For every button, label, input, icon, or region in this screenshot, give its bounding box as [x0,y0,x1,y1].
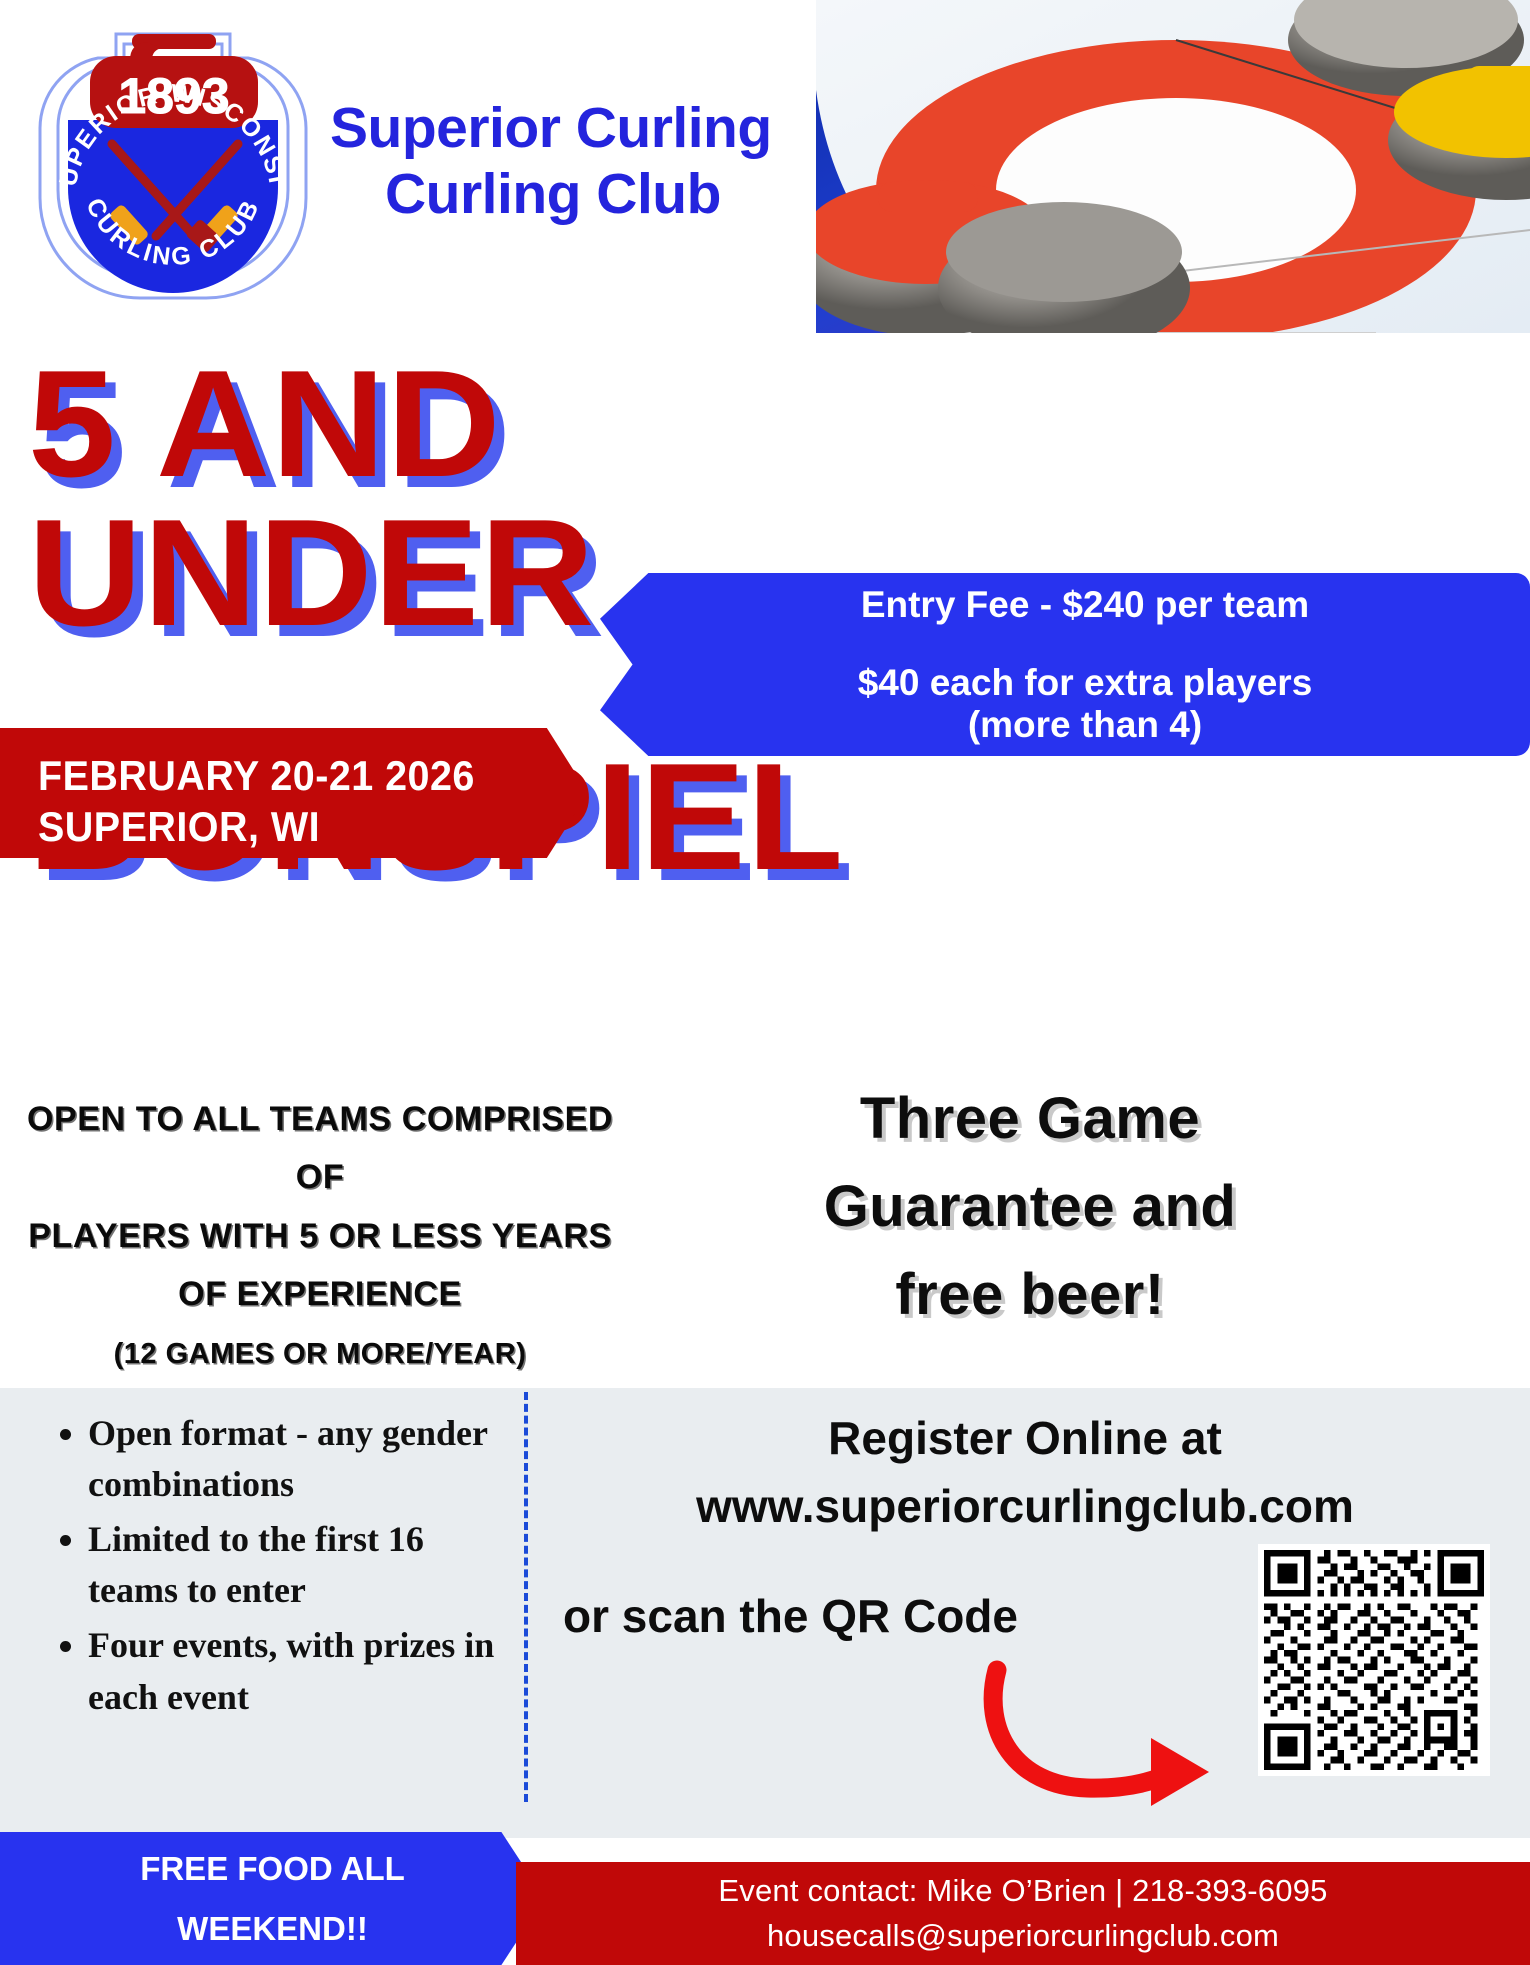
list-item: Limited to the first 16 teams to enter [88,1514,516,1616]
event-location: SUPERIOR, WI [38,801,555,852]
entry-fee-line: Entry Fee - $240 per team [861,584,1309,626]
format-bullets: Open format - any gender combinations Li… [46,1408,516,1727]
eligibility-line1: OPEN TO ALL TEAMS COMPRISED OF [10,1090,630,1207]
panel-divider [524,1392,528,1802]
extra-player-note: (more than 4) [968,704,1202,745]
eligibility-line4: (12 GAMES OR MORE/YEAR) [10,1338,630,1371]
free-food-line2: WEEKEND!! [177,1899,368,1958]
register-url[interactable]: www.superiorcurlingclub.com [545,1472,1505,1540]
guarantee-text: Three Game Guarantee and free beer! [680,1075,1380,1339]
event-date: FEBRUARY 20-21 2026 [38,750,555,801]
eligibility-line2: PLAYERS WITH 5 OR LESS YEARS [10,1207,630,1265]
contact-email[interactable]: housecalls@superiorcurlingclub.com [767,1914,1279,1959]
club-logo: 1893 SUPERIOR-WISCONSIN CURLING CLUB [28,8,318,328]
club-title: Superior Curling Curling Club [330,95,830,227]
guarantee-line3: free beer! [680,1251,1380,1339]
date-location-banner: FEBRUARY 20-21 2026 SUPERIOR, WI [0,728,588,858]
contact-banner: Event contact: Mike O’Brien | 218-393-60… [516,1862,1530,1965]
list-item: Open format - any gender combinations [88,1408,516,1510]
guarantee-line1: Three Game [680,1075,1380,1163]
event-title-line1: 5 AND UNDER [28,339,595,658]
list-item: Four events, with prizes in each event [88,1620,516,1722]
club-title-line2: Curling Club [385,161,830,227]
free-food-banner: FREE FOOD ALL WEEKEND!! [0,1832,545,1965]
eligibility-text: OPEN TO ALL TEAMS COMPRISED OF PLAYERS W… [10,1090,630,1371]
extra-player-fee-line: $40 each for extra players (more than 4) [858,662,1313,745]
free-food-line1: FREE FOOD ALL [140,1839,405,1898]
extra-player-fee-text: $40 each for extra players [858,662,1313,703]
curling-stones-photo [816,0,1530,333]
contact-name-phone: Event contact: Mike O’Brien | 218-393-60… [718,1869,1327,1914]
flyer-page: 1893 SUPERIOR-WISCONSIN CURLING CLUB [0,0,1530,1965]
curved-arrow-icon [975,1660,1225,1820]
qr-code[interactable] [1258,1544,1490,1776]
header: 1893 SUPERIOR-WISCONSIN CURLING CLUB [0,0,1530,340]
register-line1: Register Online at [545,1404,1505,1472]
eligibility-line3: OF EXPERIENCE [10,1265,630,1323]
club-title-line1: Superior Curling [330,95,830,161]
entry-fee-banner: Entry Fee - $240 per team $40 each for e… [600,573,1530,756]
guarantee-line2: Guarantee and [680,1163,1380,1251]
